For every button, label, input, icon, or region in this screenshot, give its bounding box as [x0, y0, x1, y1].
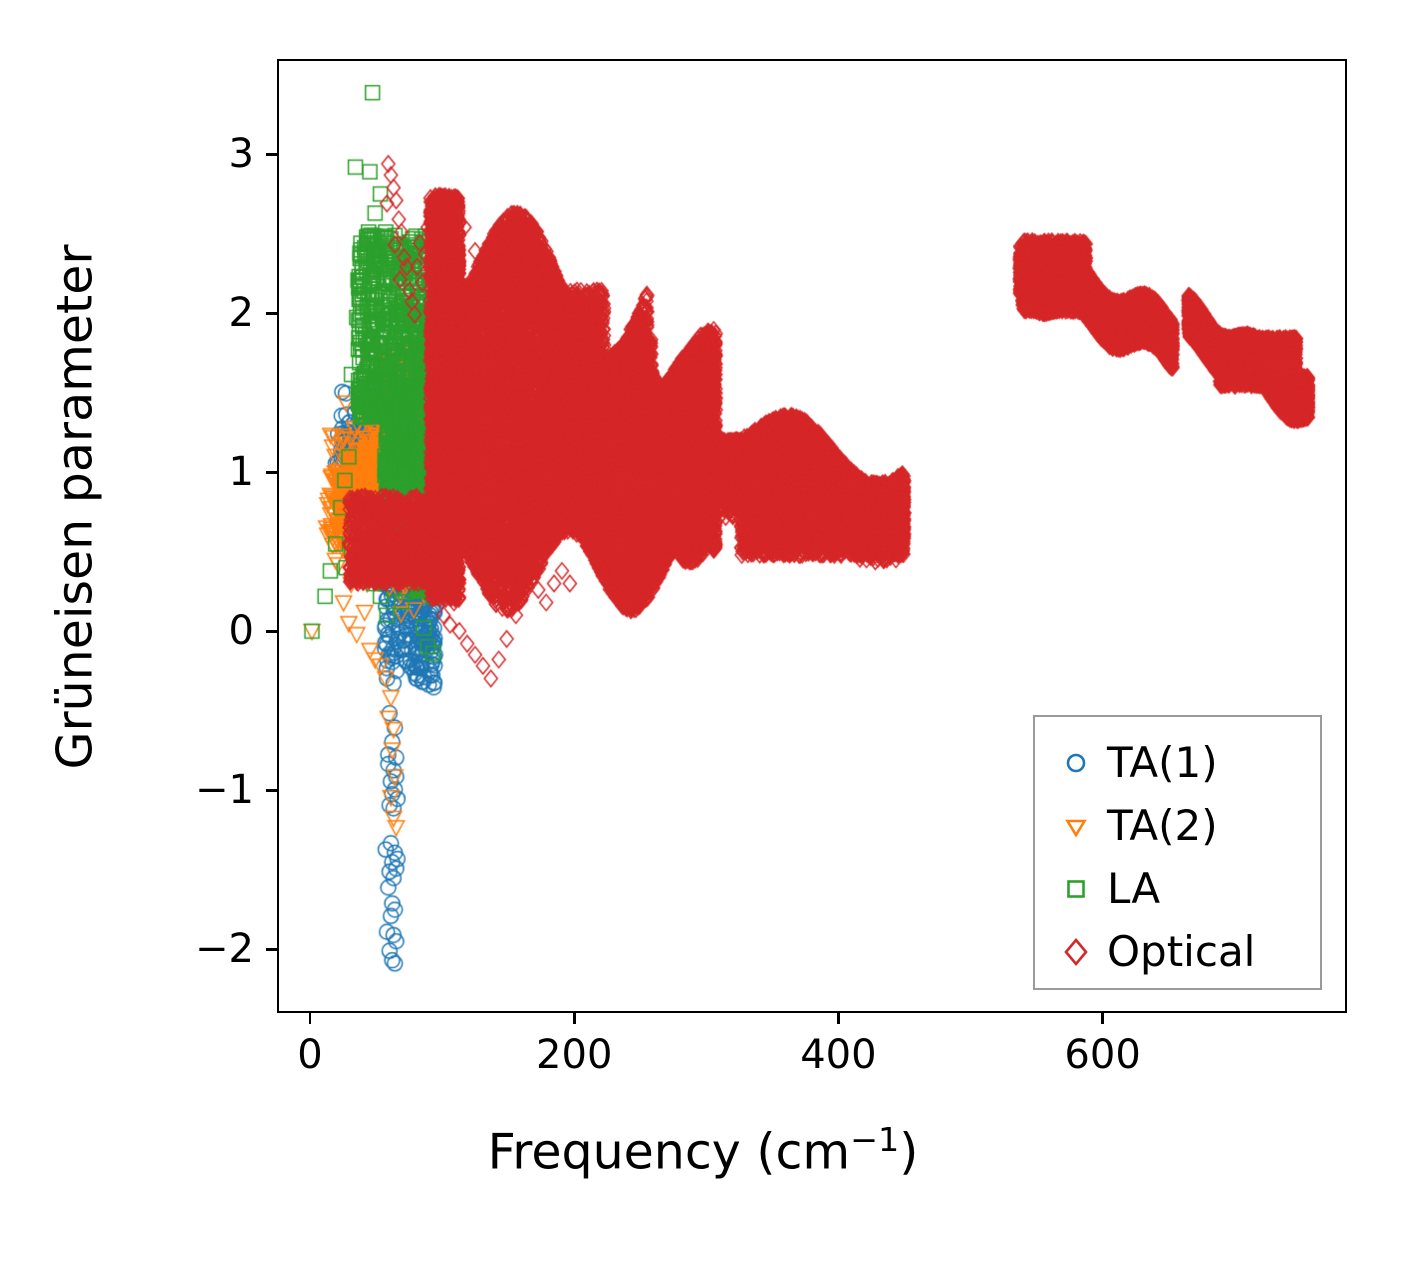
diamond-marker-icon	[1049, 937, 1103, 967]
y-tick-label: 2	[150, 290, 254, 336]
y-tick-label: 3	[150, 131, 254, 177]
y-tick-label: −2	[150, 926, 254, 972]
y-tick	[266, 312, 277, 315]
y-tick	[266, 789, 277, 792]
triangle-down-marker-icon	[1049, 813, 1103, 839]
y-axis-label: Grüneisen parameter	[47, 244, 104, 769]
x-tick-label: 0	[297, 1032, 322, 1078]
y-tick	[266, 153, 277, 156]
legend-label-ta1: TA(1)	[1103, 738, 1218, 787]
legend-item-ta1[interactable]: TA(1)	[1035, 731, 1320, 794]
legend-label-la: LA	[1103, 864, 1160, 913]
y-tick-label: 0	[150, 608, 254, 654]
x-tick	[1101, 1013, 1104, 1024]
circle-marker-icon	[1049, 750, 1103, 776]
figure-grueneisen-scatter: Grüneisen parameter −2−10123 0200400600 …	[0, 0, 1406, 1264]
legend-item-optical[interactable]: Optical	[1035, 920, 1320, 983]
legend-label-ta2: TA(2)	[1103, 801, 1218, 850]
legend-item-la[interactable]: LA	[1035, 857, 1320, 920]
y-tick-label: 1	[150, 449, 254, 495]
legend: TA(1) TA(2) LA Optical	[1033, 715, 1322, 990]
y-tick	[266, 471, 277, 474]
x-axis-label-tail: )	[899, 1123, 918, 1180]
legend-label-optical: Optical	[1103, 927, 1255, 976]
x-tick-label: 400	[800, 1032, 876, 1078]
legend-item-ta2[interactable]: TA(2)	[1035, 794, 1320, 857]
y-axis-label-container: Grüneisen parameter	[0, 0, 150, 1013]
legend-list: TA(1) TA(2) LA Optical	[1035, 717, 1320, 983]
square-marker-icon	[1049, 876, 1103, 902]
y-tick-label: −1	[150, 767, 254, 813]
x-axis-label-base: Frequency (cm	[488, 1123, 851, 1180]
x-tick	[309, 1013, 312, 1024]
x-tick-label: 600	[1064, 1032, 1140, 1078]
y-tick	[266, 948, 277, 951]
x-tick-label: 200	[536, 1032, 612, 1078]
x-axis-label-exponent: −1	[850, 1120, 899, 1159]
x-tick	[837, 1013, 840, 1024]
x-tick	[573, 1013, 576, 1024]
y-tick	[266, 630, 277, 633]
x-axis-label: Frequency (cm−1)	[0, 1120, 1406, 1180]
